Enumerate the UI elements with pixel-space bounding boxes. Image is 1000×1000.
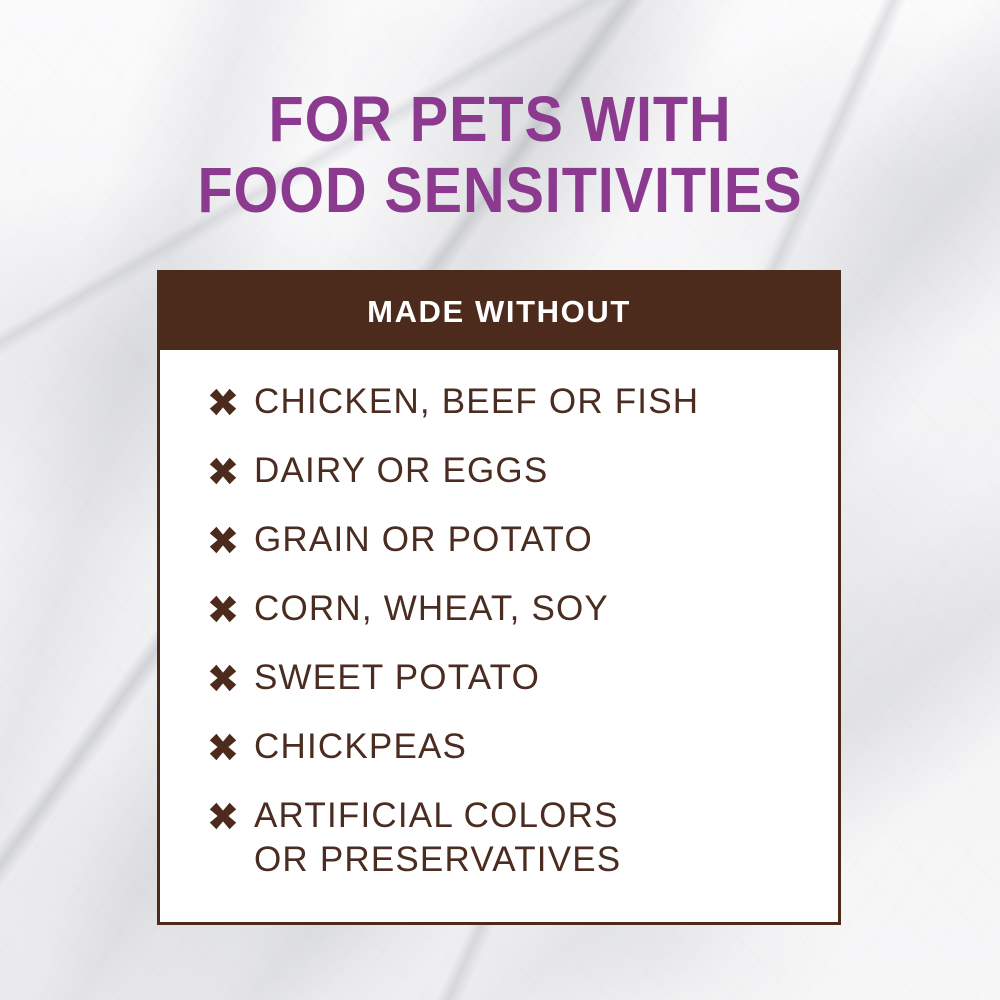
card-body: CHICKEN, BEEF OR FISH DAIRY OR EGGS GRAI…: [160, 350, 838, 922]
page-title: FOR PETS WITH FOOD SENSITIVITIES: [0, 84, 1000, 226]
list-item-label: GRAIN OR POTATO: [254, 518, 593, 562]
x-mark-icon: [208, 801, 238, 831]
card-banner-title: MADE WITHOUT: [367, 296, 631, 327]
list-item-label: ARTIFICIAL COLORS OR PRESERVATIVES: [254, 794, 621, 882]
list-item-label: CHICKEN, BEEF OR FISH: [254, 380, 699, 424]
list-item: CHICKPEAS: [208, 725, 812, 769]
product-claims-graphic: FOR PETS WITH FOOD SENSITIVITIES MADE WI…: [0, 0, 1000, 1000]
list-item-label: CORN, WHEAT, SOY: [254, 587, 609, 631]
list-item: DAIRY OR EGGS: [208, 449, 812, 493]
list-item-label: CHICKPEAS: [254, 725, 467, 769]
list-item: CHICKEN, BEEF OR FISH: [208, 380, 812, 424]
x-mark-icon: [208, 525, 238, 555]
card-banner: MADE WITHOUT: [160, 273, 838, 350]
made-without-card: MADE WITHOUT CHICKEN, BEEF OR FISH DAIRY…: [157, 270, 841, 925]
page-title-line-2: FOOD SENSITIVITIES: [50, 155, 950, 226]
list-item: ARTIFICIAL COLORS OR PRESERVATIVES: [208, 794, 812, 882]
list-item: SWEET POTATO: [208, 656, 812, 700]
page-title-line-1: FOR PETS WITH: [50, 84, 950, 155]
list-item-label: DAIRY OR EGGS: [254, 449, 548, 493]
x-mark-icon: [208, 594, 238, 624]
x-mark-icon: [208, 663, 238, 693]
x-mark-icon: [208, 732, 238, 762]
list-item-label: SWEET POTATO: [254, 656, 540, 700]
x-mark-icon: [208, 387, 238, 417]
list-item: GRAIN OR POTATO: [208, 518, 812, 562]
x-mark-icon: [208, 456, 238, 486]
exclusion-list: CHICKEN, BEEF OR FISH DAIRY OR EGGS GRAI…: [160, 380, 838, 882]
list-item: CORN, WHEAT, SOY: [208, 587, 812, 631]
